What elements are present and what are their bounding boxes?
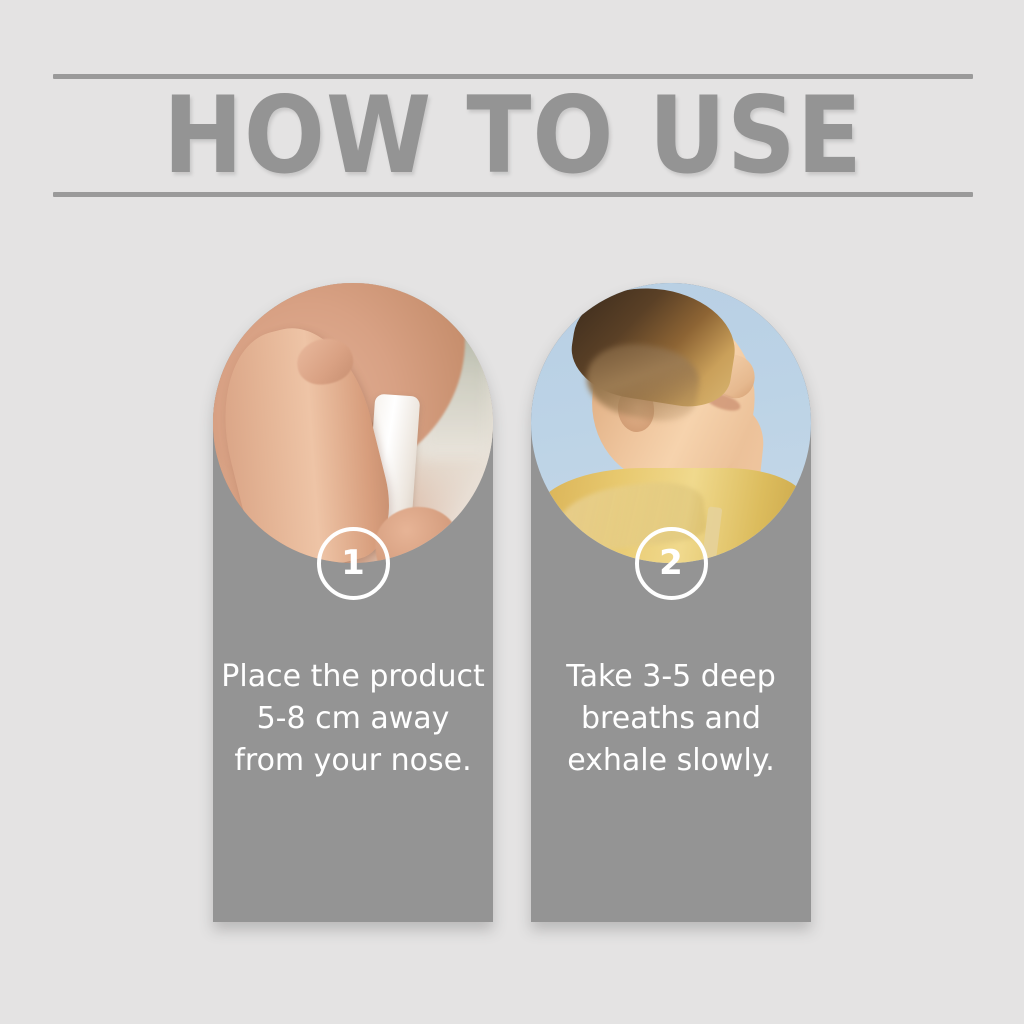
steps-container: 1 Place the product 5-8 cm away from you… — [213, 283, 811, 923]
page-title: HOW TO USE — [53, 80, 973, 192]
title-rule-bottom — [53, 192, 973, 197]
inhaler-photo-scene — [213, 283, 493, 563]
step-card-1: 1 Place the product 5-8 cm away from you… — [213, 283, 493, 922]
step-caption-1: Place the product 5-8 cm away from your … — [221, 656, 485, 782]
step-caption-2: Take 3-5 deep breaths and exhale slowly. — [539, 656, 803, 782]
step-number-badge-1: 1 — [317, 527, 390, 600]
step-number-badge-2: 2 — [635, 527, 708, 600]
step-card-2: 2 Take 3-5 deep breaths and exhale slowl… — [531, 283, 811, 922]
page-header: HOW TO USE — [53, 74, 973, 197]
step-2-photo — [531, 283, 811, 563]
breathing-photo-scene — [531, 283, 811, 563]
step-1-photo — [213, 283, 493, 563]
